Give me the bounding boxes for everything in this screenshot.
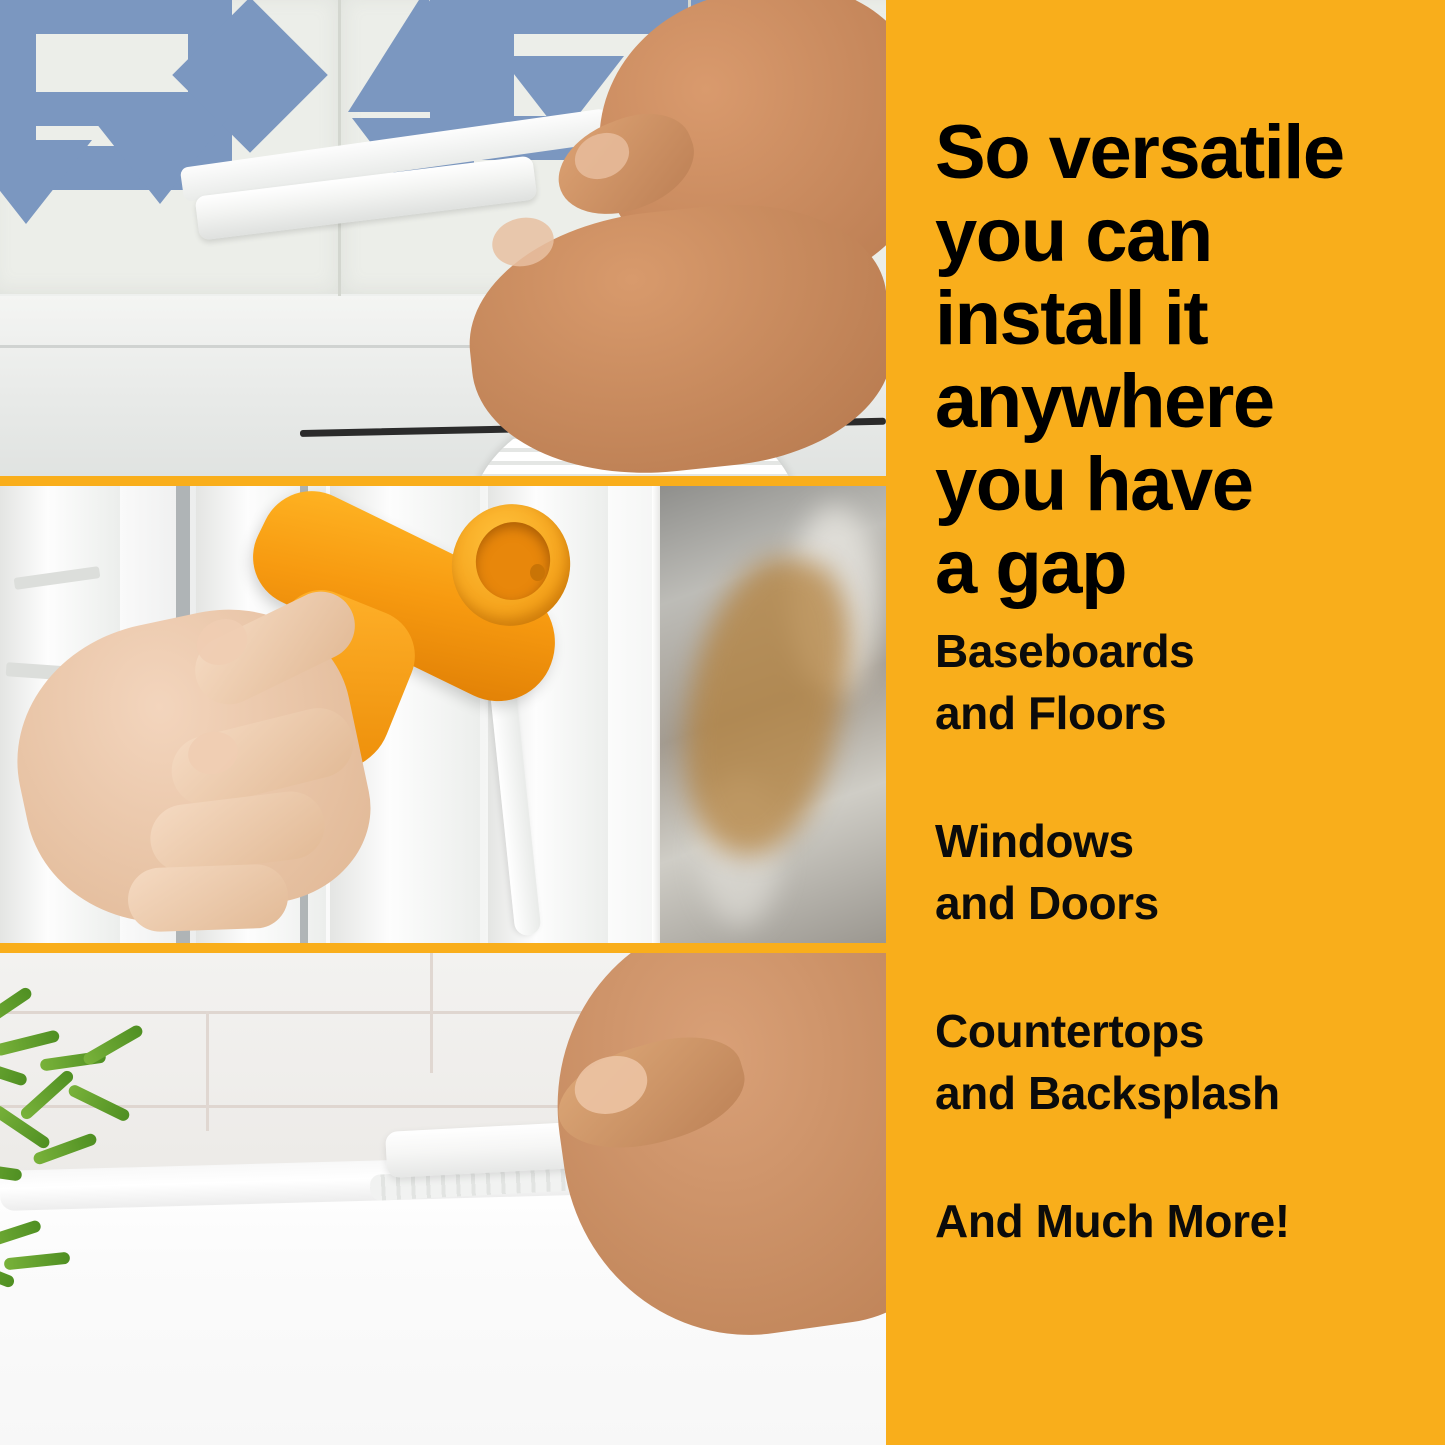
- headline: So versatile you can install it anywhere…: [935, 111, 1435, 609]
- text-panel: So versatile you can install it anywhere…: [886, 0, 1445, 1445]
- plant-leaf: [81, 1023, 144, 1066]
- plant-leaf: [4, 1252, 71, 1271]
- plant-leaf: [67, 1083, 132, 1123]
- photo-countertop-backsplash-install: [0, 953, 886, 1445]
- feature-item-windows-and-doors: Windows and Doors: [935, 810, 1435, 934]
- photo-divider-2: [0, 943, 886, 953]
- finger-pinky: [127, 863, 289, 933]
- potted-plant: [0, 993, 200, 1323]
- photo-column: [0, 0, 886, 1445]
- product-feature-image: So versatile you can install it anywhere…: [0, 0, 1445, 1445]
- plant-leaf: [0, 1160, 23, 1181]
- tool-vent-hole: [530, 564, 545, 581]
- photo-window-frame-tool: [0, 486, 886, 943]
- feature-item-and-much-more: And Much More!: [935, 1190, 1435, 1252]
- photo-divider-1: [0, 476, 886, 486]
- plant-leaf: [0, 986, 34, 1033]
- feature-list: Baseboards and Floors Windows and Doors …: [935, 620, 1435, 1252]
- plant-leaf: [18, 1068, 75, 1121]
- plant-leaf: [0, 1055, 28, 1087]
- feature-item-baseboards-and-floors: Baseboards and Floors: [935, 620, 1435, 744]
- brick-joint-1: [430, 953, 433, 1073]
- plant-leaf: [0, 1219, 42, 1251]
- photo-tile-backsplash-install: [0, 0, 886, 476]
- plant-leaf: [0, 1029, 60, 1057]
- tile-motif-triangle-a2: [0, 140, 92, 224]
- brick-joint-2: [206, 1011, 209, 1131]
- feature-item-countertops-and-backsplash: Countertops and Backsplash: [935, 1000, 1435, 1124]
